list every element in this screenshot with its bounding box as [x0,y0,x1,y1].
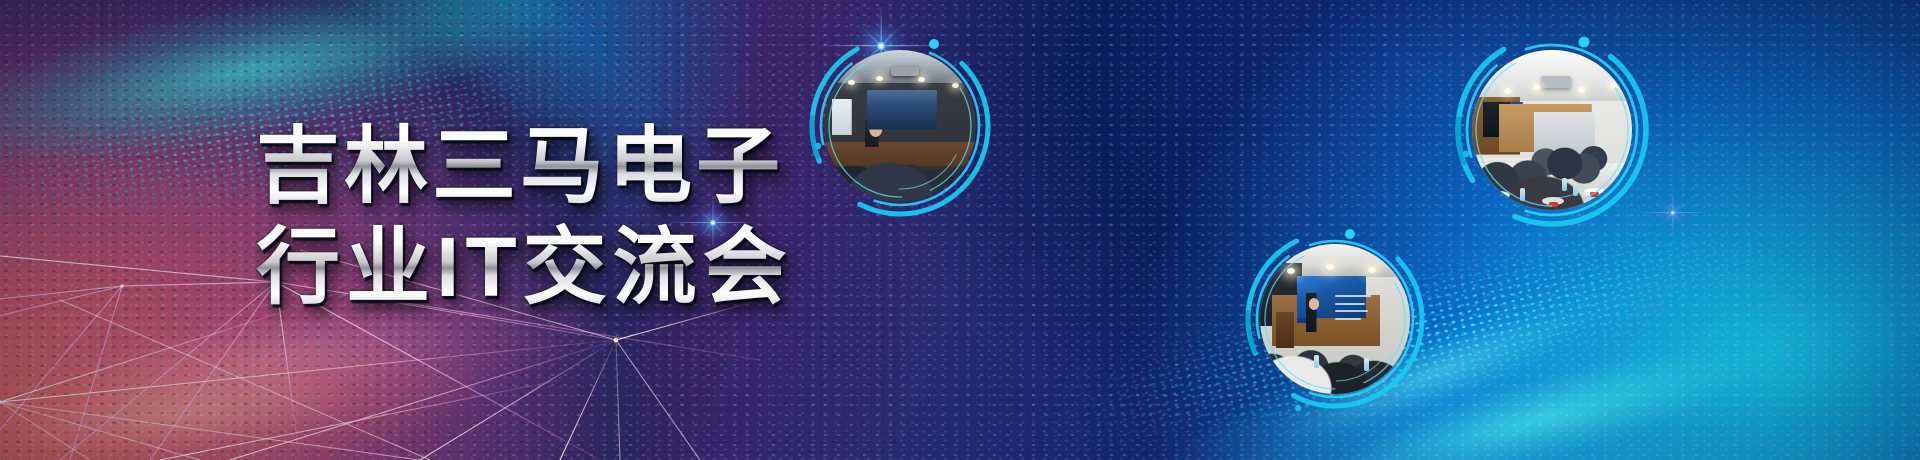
title-line-1: 吉林三马电子 [256,118,793,215]
tech-ring-lecture-hall [802,28,998,224]
title-line-2: 行业IT交流会 [256,219,793,316]
tech-ring-presenter [1238,222,1432,416]
photo-circle-presenter[interactable] [1238,222,1432,416]
tech-ring-meeting-room [1448,26,1656,234]
promo-banner: 吉林三马电子 行业IT交流会 [0,0,1920,460]
banner-title: 吉林三马电子 行业IT交流会 [256,118,793,317]
photo-circle-lecture-hall[interactable] [802,28,998,224]
photo-circle-meeting-room[interactable] [1448,26,1656,234]
